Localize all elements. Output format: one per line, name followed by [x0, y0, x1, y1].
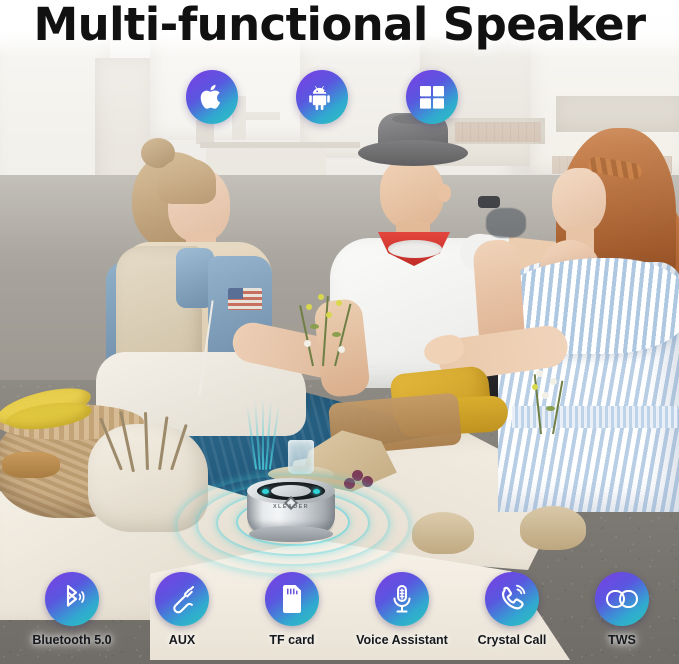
product-marketing-image: XLEADER Multi-functional Speaker [0, 0, 679, 664]
shoe [412, 512, 474, 554]
us-flag-patch [228, 288, 262, 310]
feature-label: TWS [567, 633, 677, 647]
phone-call-icon [485, 572, 539, 626]
aux-cable-icon [155, 572, 209, 626]
face [552, 168, 606, 234]
feature-aux[interactable]: AUX [127, 572, 237, 647]
feature-bluetooth[interactable]: Bluetooth 5.0 [17, 572, 127, 647]
feature-label: Crystal Call [457, 633, 567, 647]
feature-label: Voice Assistant [347, 633, 457, 647]
apple-icon [186, 70, 238, 124]
tf-card-icon [265, 572, 319, 626]
speaker-led-indicator [262, 489, 269, 494]
brand-name: XLEADER [247, 504, 335, 510]
android-icon [296, 70, 348, 124]
microphone-icon [375, 572, 429, 626]
feature-tf-card[interactable]: TF card [237, 572, 347, 647]
bluetooth-speaker-product: XLEADER [247, 478, 335, 540]
flower-bouquet [512, 366, 582, 446]
flower-bouquet [292, 290, 362, 370]
rooftop-vent [246, 112, 280, 120]
shirt-collar [388, 240, 442, 258]
face [380, 158, 444, 230]
linked-rings-icon [595, 572, 649, 626]
feature-tws[interactable]: TWS [567, 572, 677, 647]
bluetooth-icon [45, 572, 99, 626]
brick-wall-texture [455, 122, 541, 142]
speaker-base [249, 526, 333, 542]
page-title: Multi-functional Speaker [0, 0, 679, 52]
shoe [520, 506, 586, 550]
ear [438, 184, 451, 202]
bread [2, 452, 60, 478]
rooftop-building [556, 96, 679, 132]
fedora-brim [358, 140, 468, 166]
feature-label: Bluetooth 5.0 [17, 633, 127, 647]
speaker-led-indicator [313, 489, 320, 494]
windows-icon [406, 70, 458, 124]
feature-label: TF card [237, 633, 347, 647]
feature-crystal-call[interactable]: Crystal Call [457, 572, 567, 647]
drinking-glass [288, 440, 314, 474]
feature-label: AUX [127, 633, 237, 647]
hair-front [158, 158, 216, 204]
arm-tattoo [486, 208, 526, 238]
feature-voice-assistant[interactable]: Voice Assistant [347, 572, 457, 647]
wristwatch [478, 196, 500, 208]
